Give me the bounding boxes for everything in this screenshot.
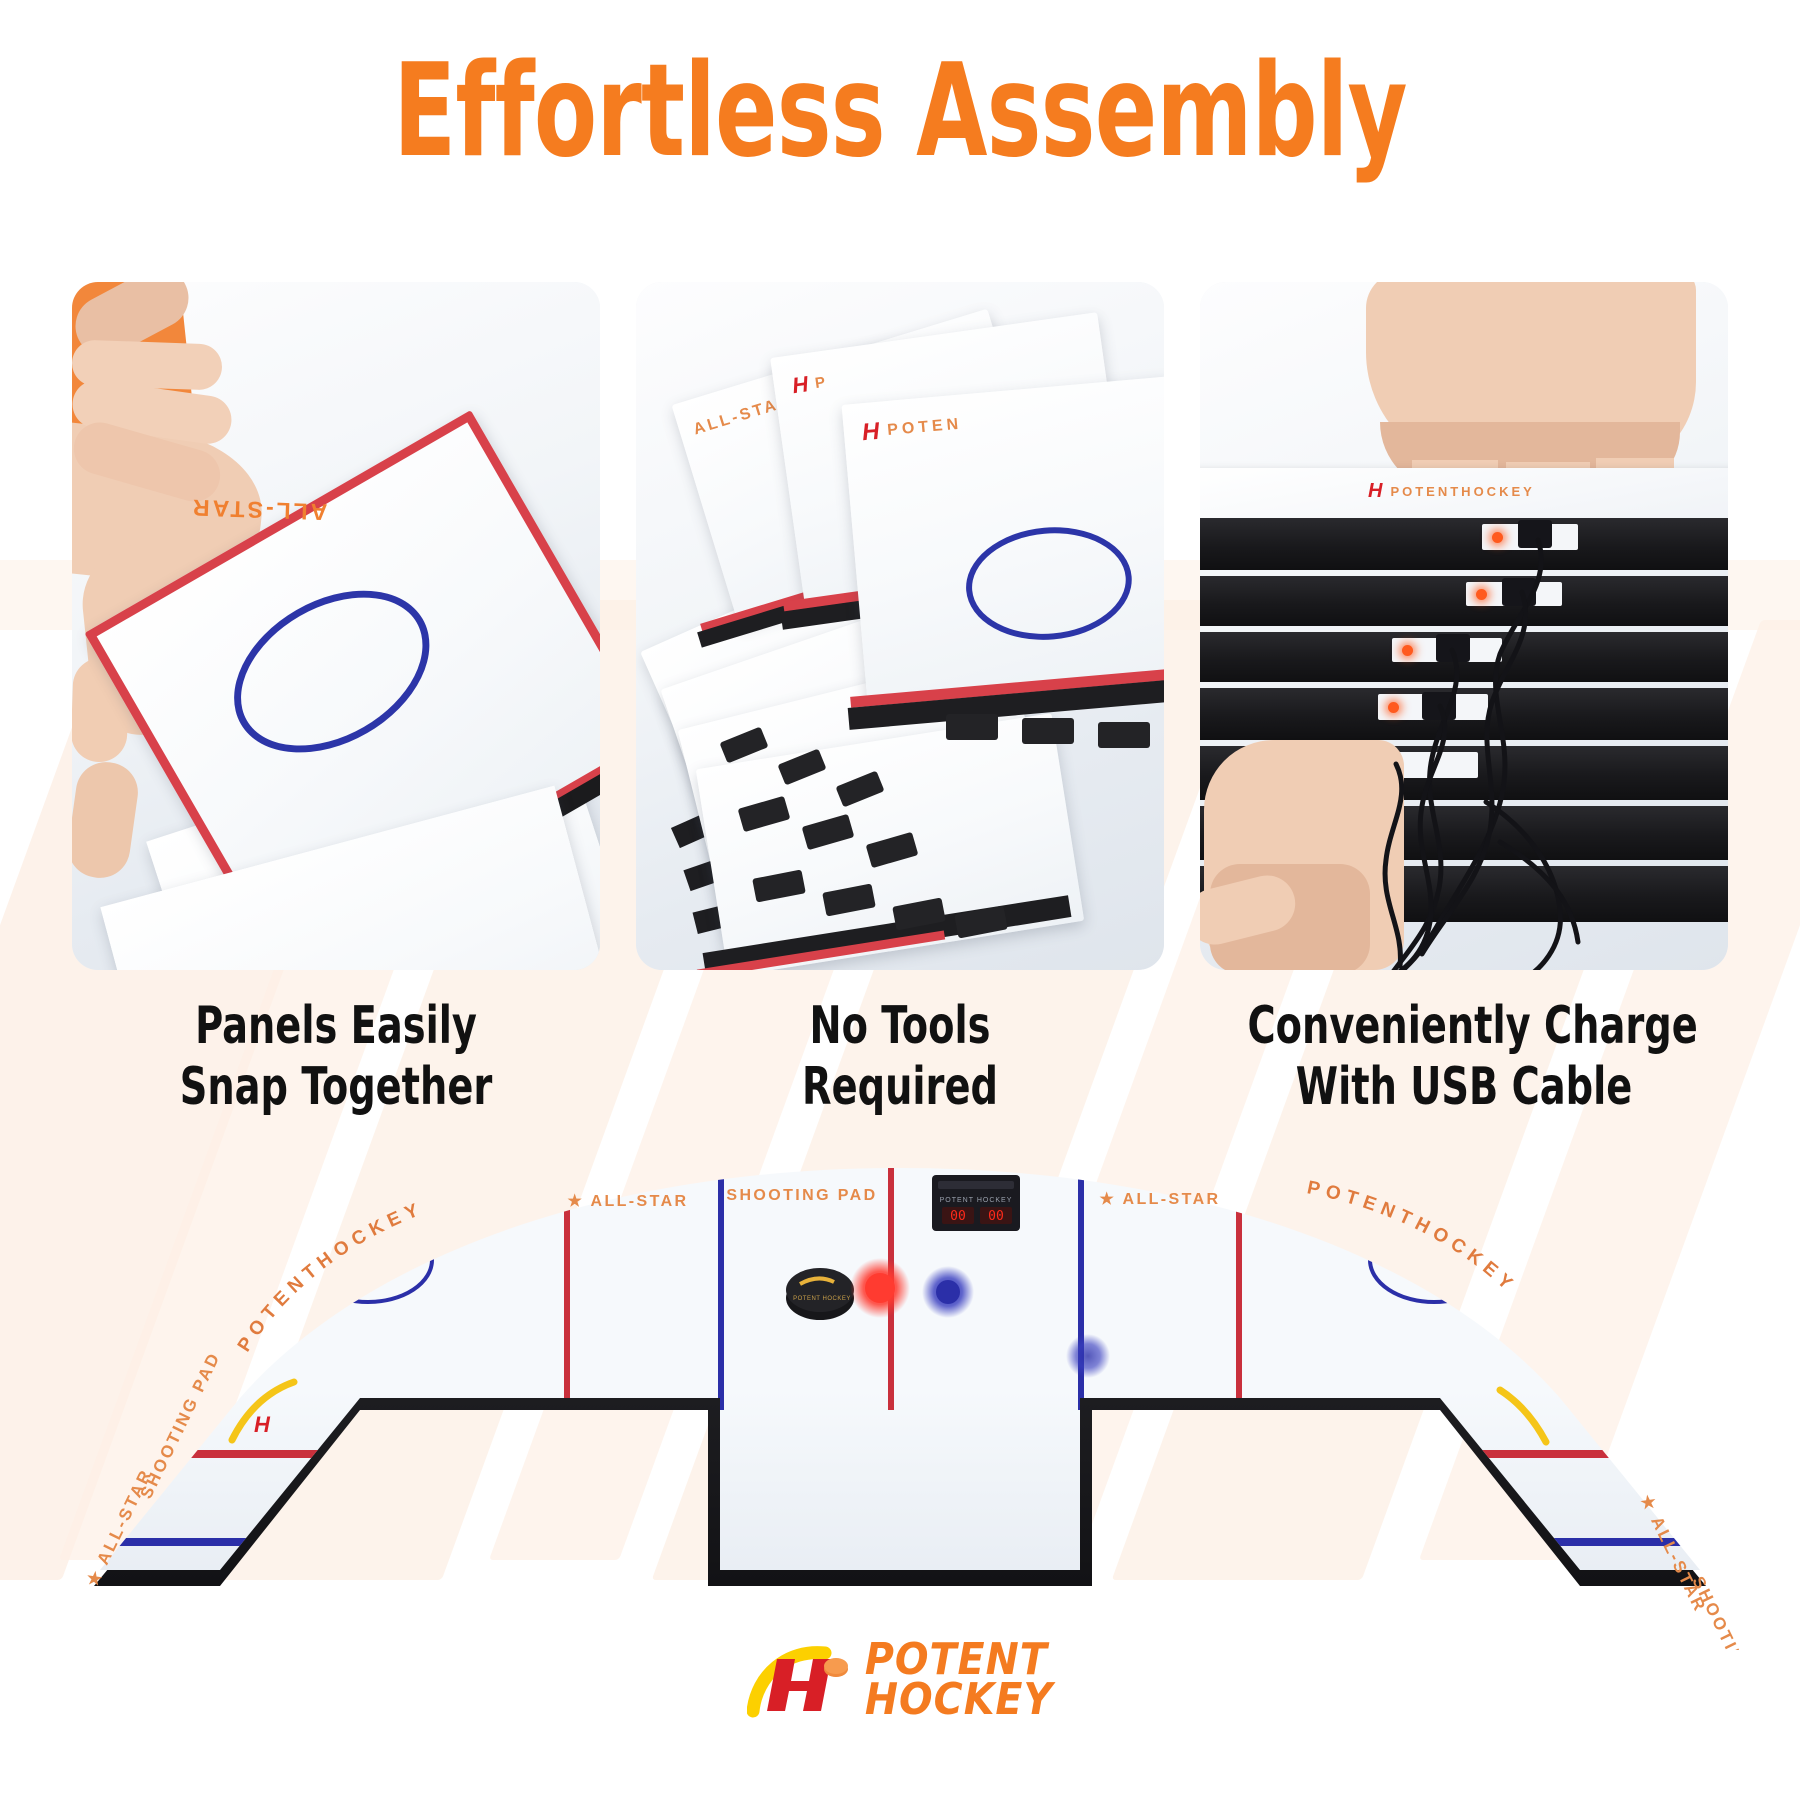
svg-text:H: H bbox=[254, 1412, 271, 1437]
hockey-puck[interactable]: POTENT HOCKEY bbox=[786, 1268, 854, 1320]
caption-usb-charging: Conveniently Charge With USB Cable bbox=[1248, 996, 1681, 1119]
pad-surface bbox=[100, 1168, 1700, 1570]
scoreboard-right-value: 00 bbox=[988, 1209, 1004, 1224]
blue-target-secondary[interactable] bbox=[1066, 1334, 1110, 1378]
hero-right-wing-shooting-pad: SHOOTING PAD bbox=[1688, 1573, 1776, 1650]
pad-seam-blue bbox=[718, 1160, 724, 1410]
caption-line-2: Snap Together bbox=[120, 1057, 553, 1118]
caption-line-1: Conveniently Charge bbox=[1248, 996, 1681, 1057]
puck-label: POTENT HOCKEY bbox=[793, 1296, 851, 1302]
pad-seam-red bbox=[1236, 1160, 1242, 1410]
caption-line-2: With USB Cable bbox=[1248, 1057, 1681, 1118]
feature-photo-usb-charging: H POTENTHOCKEY bbox=[1200, 282, 1728, 970]
caption-line-2: Required bbox=[684, 1057, 1117, 1118]
caption-line-1: No Tools bbox=[684, 996, 1117, 1057]
logo-line-2: HOCKEY bbox=[865, 1680, 1053, 1720]
potent-hockey-h-icon bbox=[747, 1641, 851, 1719]
caption-line-1: Panels Easily bbox=[120, 996, 553, 1057]
feature-photo-snap-together: ALL-STAR bbox=[72, 282, 600, 970]
brand-logo-text: POTENT HOCKEY bbox=[865, 1640, 1053, 1721]
pad-seam-red bbox=[1380, 1450, 1710, 1458]
page-title: Effortless Assembly bbox=[180, 48, 1620, 176]
hero-label-shooting-pad: SHOOTING PAD bbox=[726, 1187, 877, 1204]
feature-photo-no-tools: ALL-STAR H P H POTEN bbox=[636, 282, 1164, 970]
feature-photo-row: ALL-STAR bbox=[72, 282, 1728, 970]
pad-seam-blue bbox=[1380, 1538, 1748, 1546]
pad-seam-red bbox=[92, 1450, 420, 1458]
feature-caption-row: Panels Easily Snap Together No Tools Req… bbox=[72, 996, 1728, 1119]
scoreboard-display[interactable]: POTENT HOCKEY 00 00 bbox=[932, 1175, 1020, 1231]
panel-label-all-star: ALL-STAR bbox=[190, 494, 328, 526]
brand-logo: POTENT HOCKEY bbox=[0, 1640, 1800, 1721]
usb-cable-icon bbox=[1200, 282, 1728, 970]
caption-no-tools: No Tools Required bbox=[684, 996, 1117, 1119]
scoreboard-brand: POTENT HOCKEY bbox=[940, 1197, 1013, 1204]
assembled-pad-hero: POTENT HOCKEY 00 00 POTENT HOCKEY ★ ALL-… bbox=[0, 1150, 1800, 1650]
hero-label-all-star-left: ★ ALL-STAR bbox=[568, 1193, 689, 1210]
caption-snap-together: Panels Easily Snap Together bbox=[120, 996, 553, 1119]
scoreboard-left-value: 00 bbox=[950, 1209, 966, 1224]
